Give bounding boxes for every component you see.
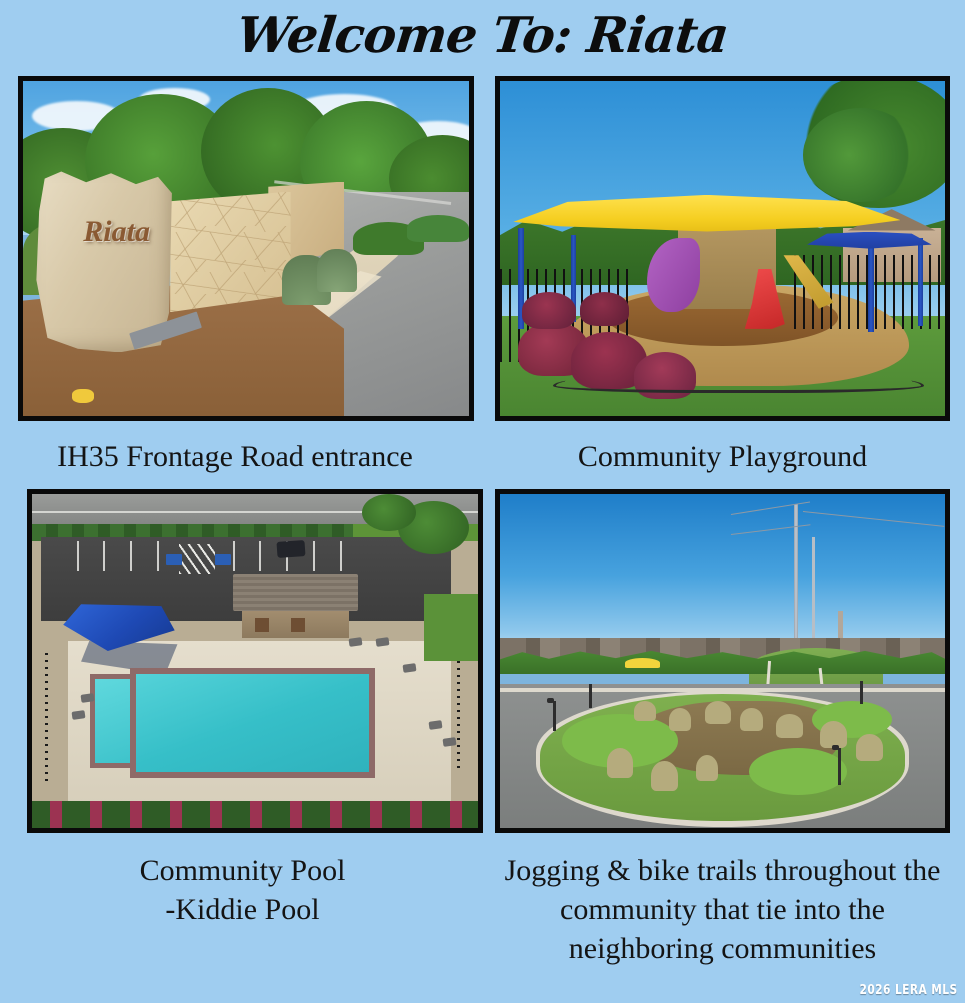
- swimming-pool: [130, 668, 375, 778]
- shrub: [580, 292, 629, 326]
- parking-stall-line: [259, 541, 261, 571]
- collage-page: Welcome To: Riata Riata: [0, 0, 965, 1003]
- shrub: [522, 292, 575, 329]
- monument-sign-text: Riata: [63, 215, 170, 249]
- ornamental-grass: [696, 755, 718, 782]
- pool-house-door: [255, 618, 269, 632]
- photo-playground[interactable]: [495, 76, 950, 421]
- transmission-pole: [812, 537, 815, 651]
- photo-entrance[interactable]: Riata: [18, 76, 474, 421]
- street-lamp: [589, 684, 592, 707]
- photo-pool[interactable]: [27, 489, 483, 833]
- ornamental-grass: [634, 701, 656, 721]
- ornamental-grass: [607, 748, 634, 778]
- sky: [500, 494, 945, 651]
- hedge: [407, 215, 469, 242]
- fence: [457, 648, 460, 768]
- fence: [45, 648, 48, 782]
- photo-playground-image: [500, 81, 945, 416]
- page-title: Welcome To: Riata: [0, 4, 965, 66]
- photo-trails[interactable]: [495, 489, 950, 833]
- grass: [424, 594, 478, 661]
- lounge-chair: [349, 637, 363, 647]
- yellow-canopy: [625, 658, 661, 668]
- tree: [803, 108, 919, 202]
- ornamental-grass: [776, 714, 803, 737]
- ornamental-grass: [317, 249, 357, 293]
- parking-stall-line: [130, 541, 132, 571]
- ornamental-grass: [820, 721, 847, 748]
- ornamental-grass: [856, 734, 883, 761]
- street-lamp-head: [547, 698, 554, 703]
- playground-border: [553, 373, 924, 393]
- lounge-chair: [375, 637, 389, 647]
- pool-house-roof: [233, 574, 358, 611]
- street-lamp: [553, 701, 556, 731]
- ornamental-grass: [669, 708, 691, 731]
- parked-car: [277, 540, 306, 558]
- parking-stall-line: [340, 541, 342, 571]
- yellow-flag: [72, 389, 94, 402]
- watermark: 2026 LERA MLS: [860, 983, 958, 998]
- street-lamp: [860, 681, 863, 704]
- parking-stall-line: [313, 541, 315, 571]
- turf-patch: [749, 748, 847, 795]
- caption-playground: Community Playground: [495, 437, 950, 476]
- caption-trails: Jogging & bike trails throughout the com…: [495, 851, 950, 968]
- street-lamp: [838, 748, 841, 785]
- ornamental-grass: [705, 701, 732, 724]
- caption-pool: Community Pool -Kiddie Pool: [0, 851, 485, 929]
- parking-stall-line: [233, 541, 235, 571]
- tree: [362, 494, 416, 531]
- accessible-parking-icon: [166, 554, 182, 565]
- accessible-parking-icon: [215, 554, 231, 565]
- parking-stall-line: [157, 541, 159, 571]
- photo-trails-image: [500, 494, 945, 828]
- flowering-shrub-row: [32, 801, 478, 828]
- ornamental-grass: [740, 708, 762, 731]
- photo-pool-image: [32, 494, 478, 828]
- parking-stall-line: [103, 541, 105, 571]
- pool-house-door: [291, 618, 305, 632]
- caption-entrance: IH35 Frontage Road entrance: [0, 437, 470, 476]
- accessible-hatch-marking: [179, 544, 215, 574]
- street-lamp-head: [832, 745, 839, 750]
- canopy-post: [918, 238, 923, 325]
- photo-entrance-image: Riata: [23, 81, 469, 416]
- ornamental-grass: [651, 761, 678, 791]
- stone-wall: [170, 192, 290, 313]
- parking-stall-line: [77, 541, 79, 571]
- lounge-chair: [442, 737, 456, 747]
